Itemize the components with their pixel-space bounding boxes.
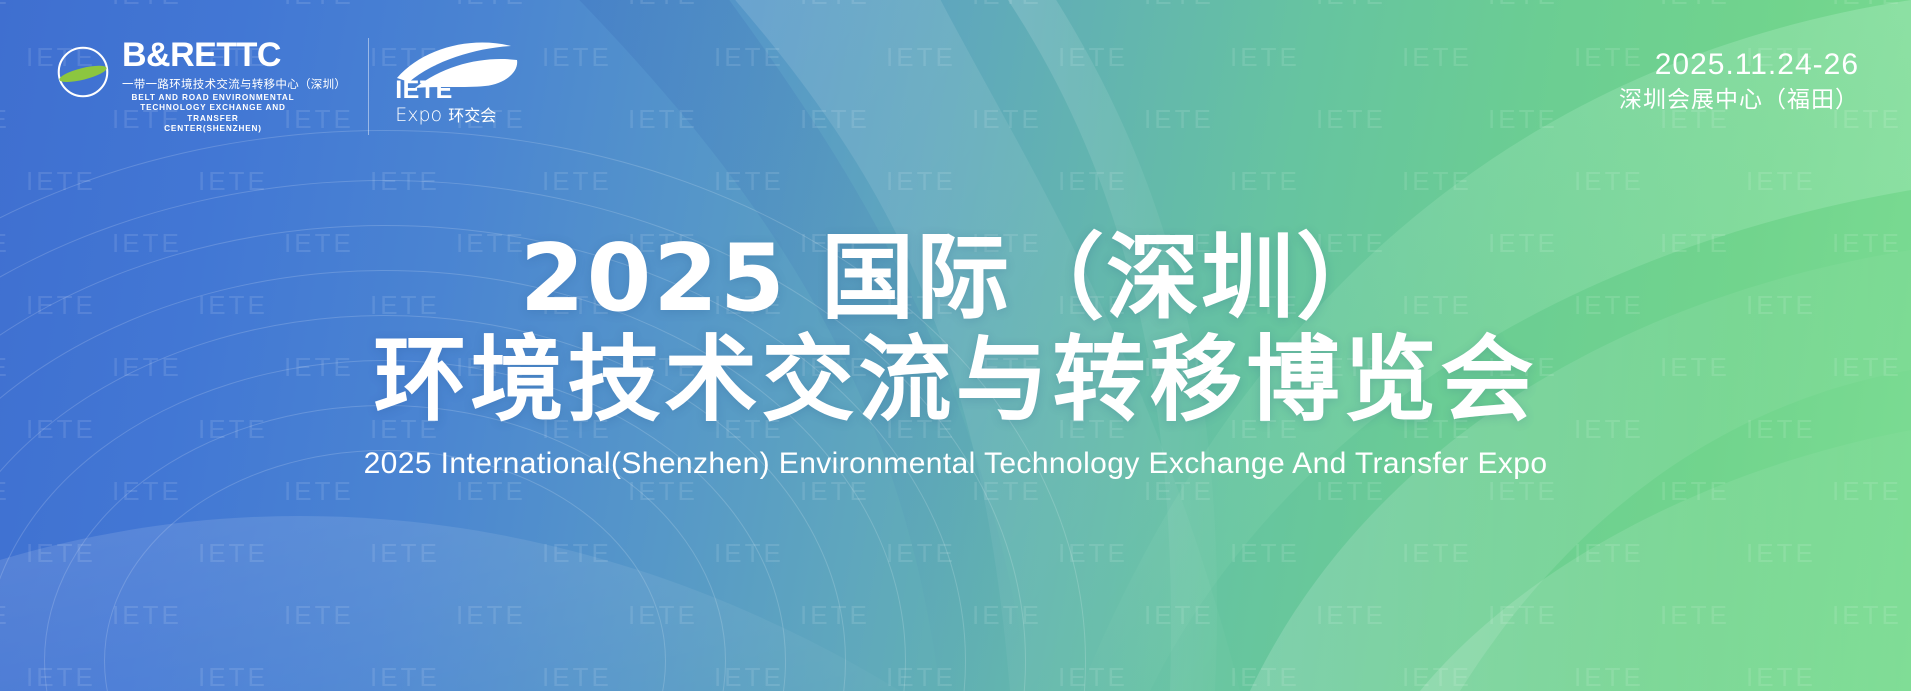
title-block: 2025 国际（深圳） 环境技术交流与转移博览会 2025 Internatio…	[0, 228, 1911, 484]
brettc-name-en: BELT AND ROAD ENVIRONMENTAL TECHNOLOGY E…	[122, 93, 304, 135]
iete-subtitle: Expo 环交会	[395, 104, 496, 127]
logo-group: B&RETTC 一带一路环境技术交流与转移中心（深圳） BELT AND ROA…	[55, 38, 525, 135]
event-venue: 深圳会展中心（福田）	[1619, 85, 1859, 115]
iete-title: IETE	[395, 78, 496, 103]
banner-header: B&RETTC 一带一路环境技术交流与转移中心（深圳） BELT AND ROA…	[0, 0, 1911, 150]
watermark-row: IETEIETEIETEIETEIETEIETEIETEIETEIETEIETE…	[26, 662, 1911, 691]
event-banner: IETEIETEIETEIETEIETEIETEIETEIETEIETEIETE…	[0, 0, 1911, 691]
watermark-row: IETEIETEIETEIETEIETEIETEIETEIETEIETEIETE…	[26, 166, 1911, 197]
globe-icon	[55, 44, 111, 100]
brettc-text-block: B&RETTC 一带一路环境技术交流与转移中心（深圳） BELT AND ROA…	[122, 38, 346, 135]
brettc-name-en-line2: TECHNOLOGY EXCHANGE AND TRANSFER	[122, 103, 304, 124]
brettc-name-en-line3: CENTER(SHENZHEN)	[122, 124, 304, 134]
iete-subtitle-cn: 环交会	[448, 106, 496, 125]
iete-text-block: IETE Expo 环交会	[395, 78, 496, 127]
iete-subtitle-en: Expo	[395, 104, 442, 126]
title-line-2: 环境技术交流与转移博览会	[0, 328, 1911, 432]
title-line-1: 2025 国际（深圳）	[0, 228, 1911, 328]
event-date: 2025.11.24-26	[1619, 48, 1859, 82]
event-meta: 2025.11.24-26 深圳会展中心（福田）	[1619, 48, 1859, 115]
iete-expo-logo: IETE Expo 环交会	[393, 38, 525, 122]
watermark-row: IETEIETEIETEIETEIETEIETEIETEIETEIETEIETE…	[26, 538, 1911, 569]
watermark-row: IETEIETEIETEIETEIETEIETEIETEIETEIETEIETE…	[0, 600, 1911, 631]
brettc-name-cn: 一带一路环境技术交流与转移中心（深圳）	[122, 77, 346, 91]
brettc-name-en-line1: BELT AND ROAD ENVIRONMENTAL	[122, 93, 304, 103]
brettc-logo: B&RETTC 一带一路环境技术交流与转移中心（深圳） BELT AND ROA…	[55, 38, 369, 135]
title-subtitle-en: 2025 International(Shenzhen) Environment…	[0, 444, 1911, 484]
brettc-title: B&RETTC	[122, 38, 346, 72]
